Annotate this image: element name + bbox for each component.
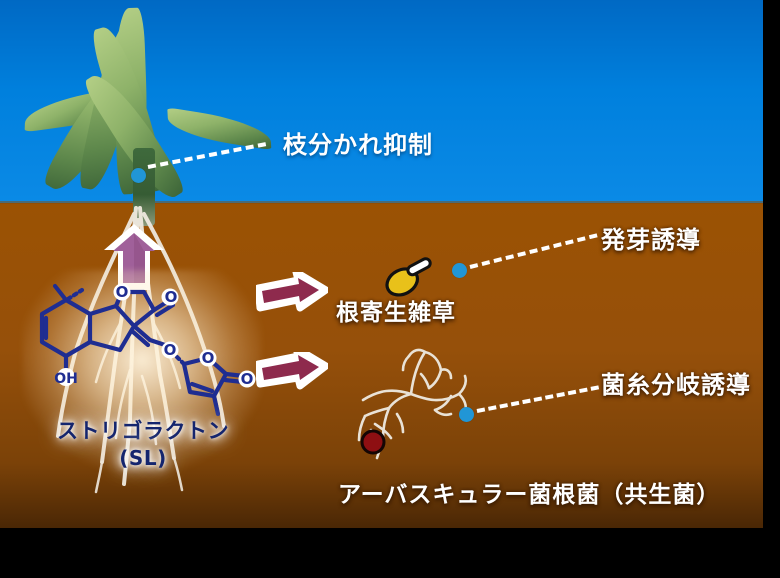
figure-canvas: O O O O O OH ストリゴラクトン (SL) (0, 0, 780, 578)
callout-label-branching: 枝分かれ抑制 (283, 125, 433, 160)
callout-dot-hyphal (459, 407, 474, 422)
strigolactone-name-jp: ストリゴラクトン (18, 418, 268, 445)
strigolactone-structure: O O O O O OH (22, 272, 258, 432)
flow-arrow-to-fungi (256, 352, 328, 400)
am-fungus-hyphae (355, 338, 485, 463)
svg-text:O: O (202, 349, 215, 367)
callout-label-germination: 発芽誘導 (601, 220, 701, 255)
svg-text:O: O (116, 283, 129, 301)
svg-text:O: O (164, 341, 177, 359)
callout-dot-branching (131, 168, 146, 183)
scene: O O O O O OH ストリゴラクトン (SL) (0, 0, 763, 528)
parasitic-weed-label: 根寄生雑草 (336, 293, 456, 327)
bottom-letterbox (0, 528, 780, 578)
svg-text:O: O (165, 288, 178, 306)
fungus-spore (362, 431, 384, 453)
flow-arrow-to-weed (256, 272, 328, 320)
right-letterbox (763, 0, 780, 578)
strigolactone-label: ストリゴラクトン (SL) (18, 418, 268, 472)
callout-label-hyphal: 菌糸分岐誘導 (601, 365, 751, 400)
am-fungus-label: アーバスキュラー菌根菌（共生菌） (338, 475, 720, 509)
callout-dot-germination (452, 263, 467, 278)
svg-text:O: O (241, 370, 254, 388)
strigolactone-abbrev: (SL) (18, 445, 268, 472)
svg-text:OH: OH (54, 371, 78, 387)
parasitic-weed-seed (378, 255, 436, 297)
host-plant-shoot (18, 8, 248, 228)
